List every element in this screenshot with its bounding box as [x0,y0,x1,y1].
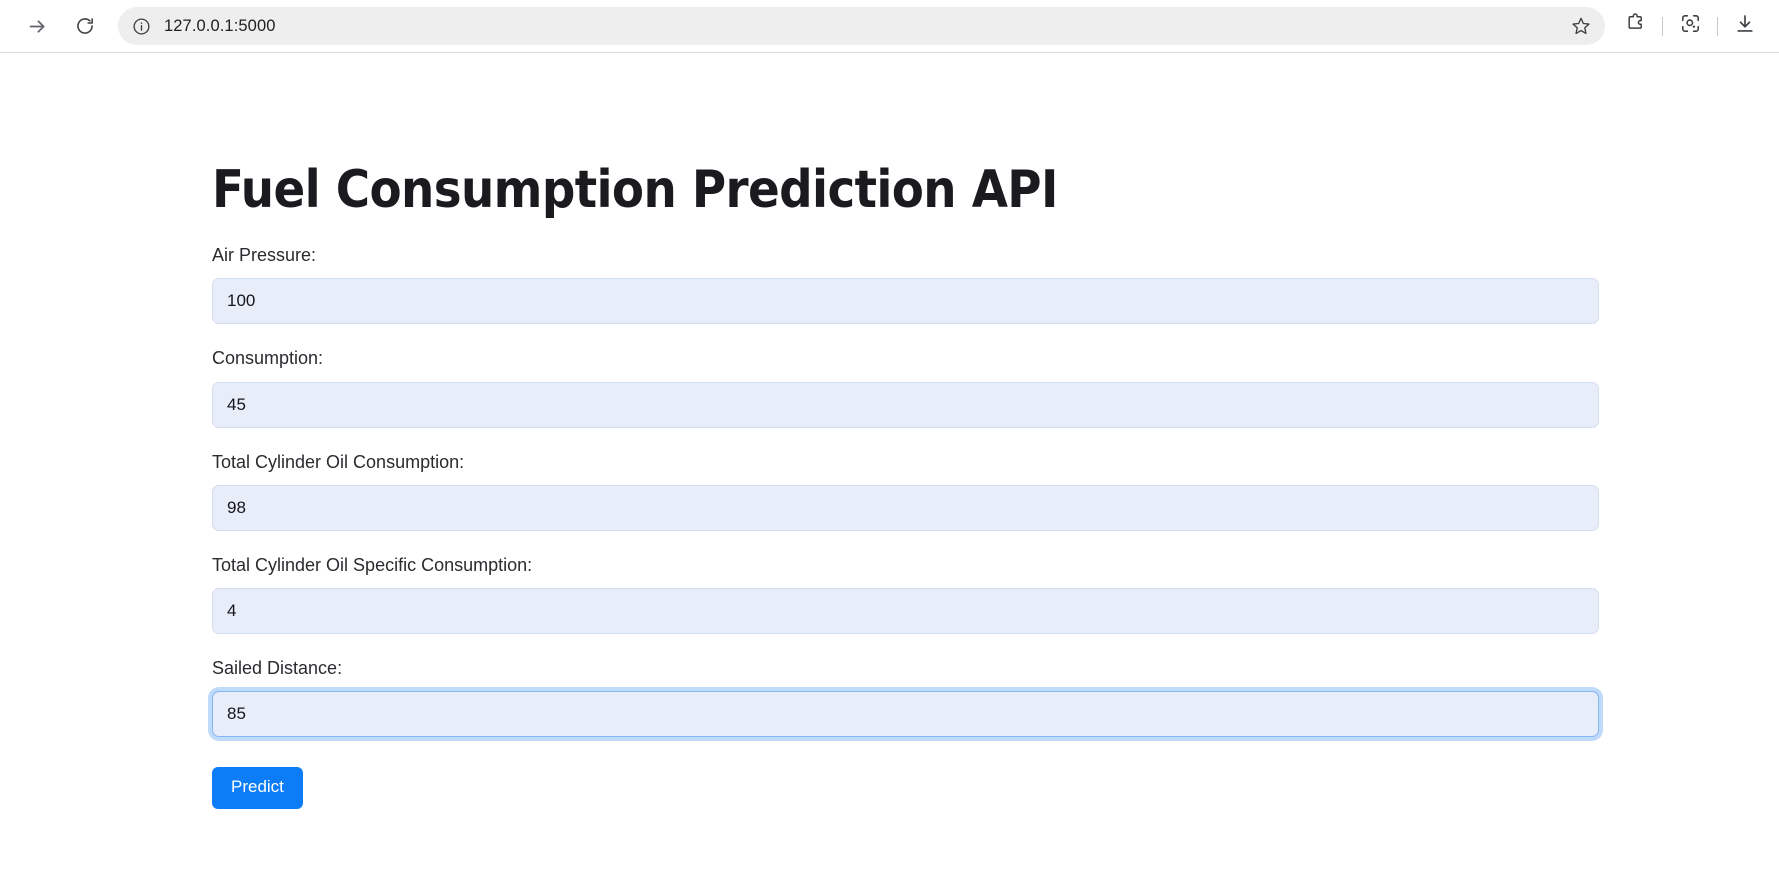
reload-icon [75,16,95,36]
downloads-button[interactable] [1725,7,1765,45]
input-consumption[interactable] [212,382,1599,428]
lens-button[interactable] [1670,7,1710,45]
downloads-icon [1734,13,1756,40]
input-air-pressure[interactable] [212,278,1599,324]
page-title: Fuel Consumption Prediction API [212,161,1599,219]
field-group-sailed-distance: Sailed Distance: [212,656,1599,737]
extensions-puzzle-icon [1625,13,1646,39]
prediction-form: Air Pressure: Consumption: Total Cylinde… [212,243,1599,809]
label-total-cylinder-oil-consumption: Total Cylinder Oil Consumption: [212,450,1599,475]
field-group-consumption: Consumption: [212,346,1599,427]
field-group-total-cylinder-oil-consumption: Total Cylinder Oil Consumption: [212,450,1599,531]
label-sailed-distance: Sailed Distance: [212,656,1599,681]
toolbar-divider-1 [1662,17,1663,36]
input-sailed-distance[interactable] [212,691,1599,737]
browser-toolbar: 127.0.0.1:5000 [0,0,1779,53]
toolbar-divider-2 [1717,17,1718,36]
site-info-icon[interactable] [126,11,156,41]
input-total-cylinder-oil-specific-consumption[interactable] [212,588,1599,634]
google-lens-icon [1680,13,1701,39]
field-group-total-cylinder-oil-specific-consumption: Total Cylinder Oil Specific Consumption: [212,553,1599,634]
bookmark-star-icon[interactable] [1565,10,1597,42]
toolbar-actions [1615,7,1765,45]
form-container: Fuel Consumption Prediction API Air Pres… [0,53,1779,809]
forward-button[interactable] [18,7,56,45]
page-viewport: Fuel Consumption Prediction API Air Pres… [0,53,1779,873]
address-bar-url[interactable]: 127.0.0.1:5000 [164,17,1565,36]
label-total-cylinder-oil-specific-consumption: Total Cylinder Oil Specific Consumption: [212,553,1599,578]
predict-button[interactable]: Predict [212,767,303,809]
input-total-cylinder-oil-consumption[interactable] [212,485,1599,531]
address-bar[interactable]: 127.0.0.1:5000 [118,7,1605,45]
label-consumption: Consumption: [212,346,1599,371]
field-group-air-pressure: Air Pressure: [212,243,1599,324]
label-air-pressure: Air Pressure: [212,243,1599,268]
extensions-button[interactable] [1615,7,1655,45]
reload-button[interactable] [66,7,104,45]
forward-arrow-icon [27,16,48,37]
